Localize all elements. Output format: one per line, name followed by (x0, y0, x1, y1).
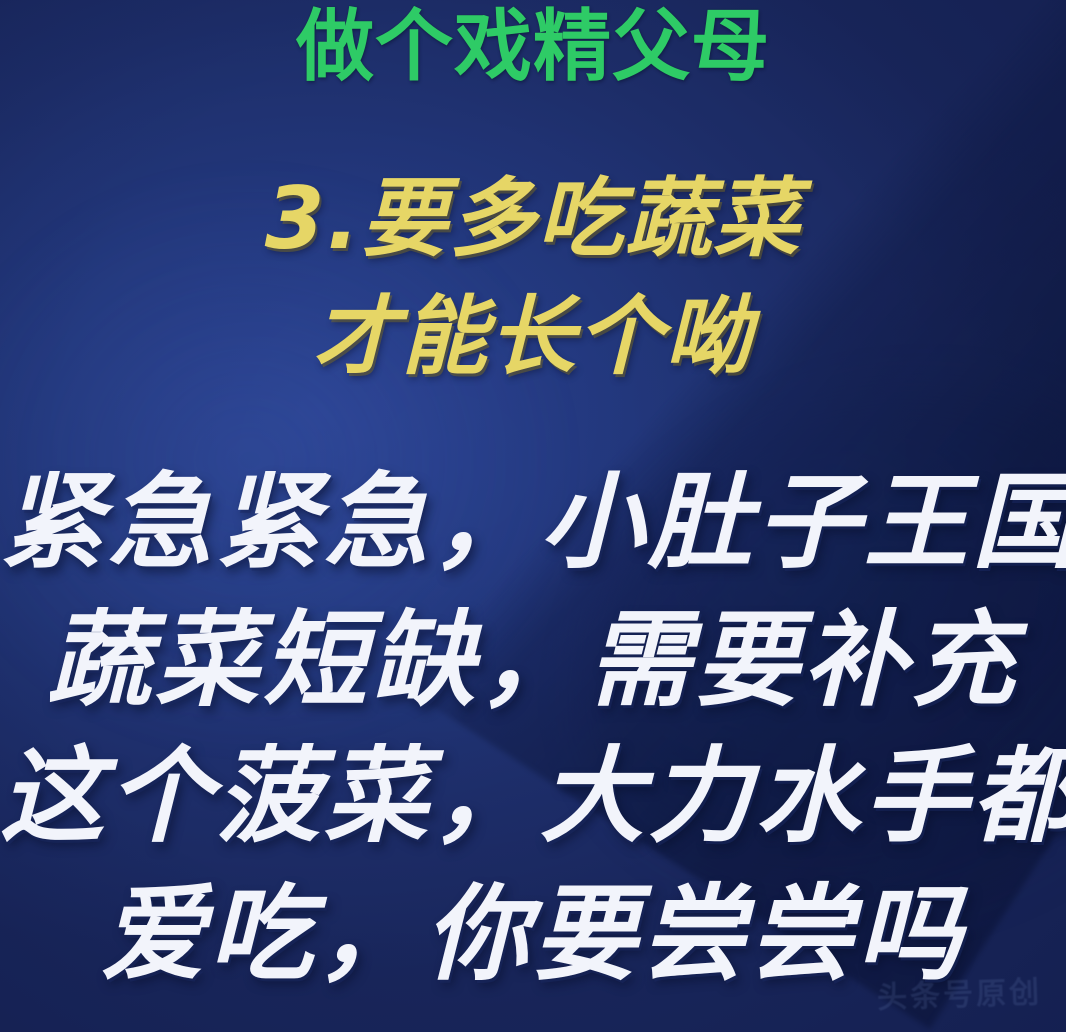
poster-watermark: 头条号原创 (876, 967, 1042, 1017)
poster-canvas: 做个戏精父母 3.要多吃蔬菜 才能长个呦 紧急紧急，小肚子王国 蔬菜短缺，需要补… (0, 0, 1066, 1032)
poster-headline: 做个戏精父母 (0, 8, 1066, 86)
poster-body-line-4: 爱吃，你要尝尝吗 (0, 882, 1066, 986)
poster-body-line-2: 蔬菜短缺，需要补充 (0, 608, 1066, 712)
poster-subheadline-line-1: 3.要多吃蔬菜 (0, 176, 1066, 262)
poster-text-layer: 做个戏精父母 3.要多吃蔬菜 才能长个呦 紧急紧急，小肚子王国 蔬菜短缺，需要补… (0, 0, 1066, 1032)
poster-body-line-1: 紧急紧急，小肚子王国 (0, 470, 1066, 574)
poster-body-line-3: 这个菠菜，大力水手都 (0, 744, 1066, 848)
poster-subheadline-line-2: 才能长个呦 (0, 294, 1066, 380)
